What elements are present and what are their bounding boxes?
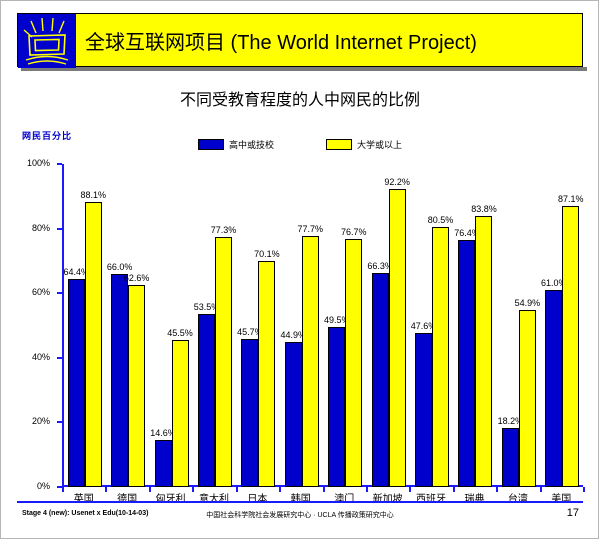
- legend-label-college: 大学或以上: [357, 138, 402, 151]
- title-banner: 全球互联网项目 (The World Internet Project): [75, 13, 583, 67]
- bar-college: 87.1%: [562, 206, 579, 487]
- y-tick-mark: [57, 163, 62, 165]
- bar-value-label: 66.0%: [107, 262, 133, 272]
- bar-value-label: 70.1%: [254, 249, 280, 259]
- bar-highschool: 64.4%: [68, 279, 85, 487]
- x-tick-mark: [105, 487, 107, 492]
- bar-group: 49.5%76.7%: [328, 239, 362, 487]
- bar-value-label: 45.5%: [167, 328, 193, 338]
- page-number: 17: [567, 507, 579, 519]
- bar-group: 66.0%62.6%: [111, 274, 145, 487]
- bar-college: 76.7%: [345, 239, 362, 487]
- plot-area: 64.4%88.1%英国66.0%62.6%德国14.6%45.5%匈牙利53.…: [62, 164, 583, 487]
- bar-college: 70.1%: [258, 261, 275, 487]
- wip-logo: [17, 13, 75, 67]
- y-tick-mark: [57, 421, 62, 423]
- y-tick-label: 80%: [32, 223, 50, 233]
- chart-legend: 高中或技校 大学或以上: [0, 138, 600, 151]
- bar-value-label: 92.2%: [384, 177, 410, 187]
- bar-college: 62.6%: [128, 285, 145, 487]
- footer-center-text: 中国社会科学院社会发展研究中心 · UCLA 传播政策研究中心: [17, 510, 583, 520]
- bar-college: 92.2%: [389, 189, 406, 487]
- x-tick-mark: [409, 487, 411, 492]
- bar-college: 83.8%: [475, 216, 492, 487]
- y-tick-mark: [57, 357, 62, 359]
- y-axis-tick-labels: 100%80%60%40%20%0%: [14, 164, 58, 487]
- x-tick-mark: [540, 487, 542, 492]
- slide-footer: Stage 4 (new): Usenet x Edu(10-14-03) 中国…: [17, 507, 583, 527]
- header-shadow: [21, 67, 587, 71]
- bar-college: 77.3%: [215, 237, 232, 487]
- bar-group: 14.6%45.5%: [155, 340, 189, 487]
- bar-value-label: 87.1%: [558, 194, 584, 204]
- bar-highschool: 18.2%: [502, 428, 519, 487]
- y-tick-label: 0%: [37, 481, 50, 491]
- bar-group: 45.7%70.1%: [241, 261, 275, 487]
- bar-highschool: 45.7%: [241, 339, 258, 487]
- x-tick-mark: [583, 487, 585, 492]
- bar-group: 64.4%88.1%: [68, 202, 102, 487]
- bar-group: 18.2%54.9%: [502, 310, 536, 487]
- x-tick-mark: [62, 487, 64, 492]
- bar-highschool: 76.4%: [458, 240, 475, 487]
- legend-swatch-yellow: [326, 139, 352, 150]
- bar-value-label: 80.5%: [428, 215, 454, 225]
- bar-value-label: 54.9%: [515, 298, 541, 308]
- y-tick-label: 60%: [32, 287, 50, 297]
- y-tick-mark: [57, 292, 62, 294]
- bar-group: 44.9%77.7%: [285, 236, 319, 487]
- bar-highschool: 66.3%: [372, 273, 389, 487]
- x-tick-mark: [236, 487, 238, 492]
- bar-highschool: 14.6%: [155, 440, 172, 487]
- bar-value-label: 88.1%: [80, 190, 106, 200]
- bar-highschool: 61.0%: [545, 290, 562, 487]
- bar-college: 45.5%: [172, 340, 189, 487]
- bar-college: 88.1%: [85, 202, 102, 487]
- y-tick-label: 20%: [32, 416, 50, 426]
- monitor-rays-icon: [18, 14, 76, 68]
- slide-header: 全球互联网项目 (The World Internet Project): [17, 13, 583, 67]
- y-tick-label: 100%: [27, 158, 50, 168]
- bar-value-label: 76.7%: [341, 227, 367, 237]
- chart-title: 不同受教育程度的人中网民的比例: [0, 86, 600, 110]
- x-tick-mark: [323, 487, 325, 492]
- bar-group: 66.3%92.2%: [372, 189, 406, 487]
- bar-value-label: 77.7%: [298, 224, 324, 234]
- bar-highschool: 44.9%: [285, 342, 302, 487]
- legend-item-highschool: 高中或技校: [198, 138, 274, 151]
- bar-group: 76.4%83.8%: [458, 216, 492, 487]
- bar-college: 54.9%: [519, 310, 536, 487]
- bar-value-label: 62.6%: [124, 273, 150, 283]
- bar-college: 80.5%: [432, 227, 449, 487]
- bar-highschool: 47.6%: [415, 333, 432, 487]
- bar-highschool: 66.0%: [111, 274, 128, 487]
- x-tick-mark: [496, 487, 498, 492]
- y-tick-mark: [57, 228, 62, 230]
- bar-college: 77.7%: [302, 236, 319, 487]
- slide-title: 全球互联网项目 (The World Internet Project): [75, 26, 477, 55]
- footer-divider: [17, 501, 583, 503]
- x-tick-mark: [149, 487, 151, 492]
- x-tick-mark: [453, 487, 455, 492]
- bar-highschool: 49.5%: [328, 327, 345, 487]
- bar-value-label: 77.3%: [211, 225, 237, 235]
- y-axis-line: [62, 164, 64, 487]
- x-tick-mark: [192, 487, 194, 492]
- x-tick-mark: [279, 487, 281, 492]
- y-tick-label: 40%: [32, 352, 50, 362]
- bar-value-label: 83.8%: [471, 204, 497, 214]
- legend-label-highschool: 高中或技校: [229, 138, 274, 151]
- legend-item-college: 大学或以上: [326, 138, 402, 151]
- x-tick-mark: [366, 487, 368, 492]
- bar-group: 53.5%77.3%: [198, 237, 232, 487]
- bar-group: 61.0%87.1%: [545, 206, 579, 487]
- legend-swatch-blue: [198, 139, 224, 150]
- bar-highschool: 53.5%: [198, 314, 215, 487]
- bar-group: 47.6%80.5%: [415, 227, 449, 487]
